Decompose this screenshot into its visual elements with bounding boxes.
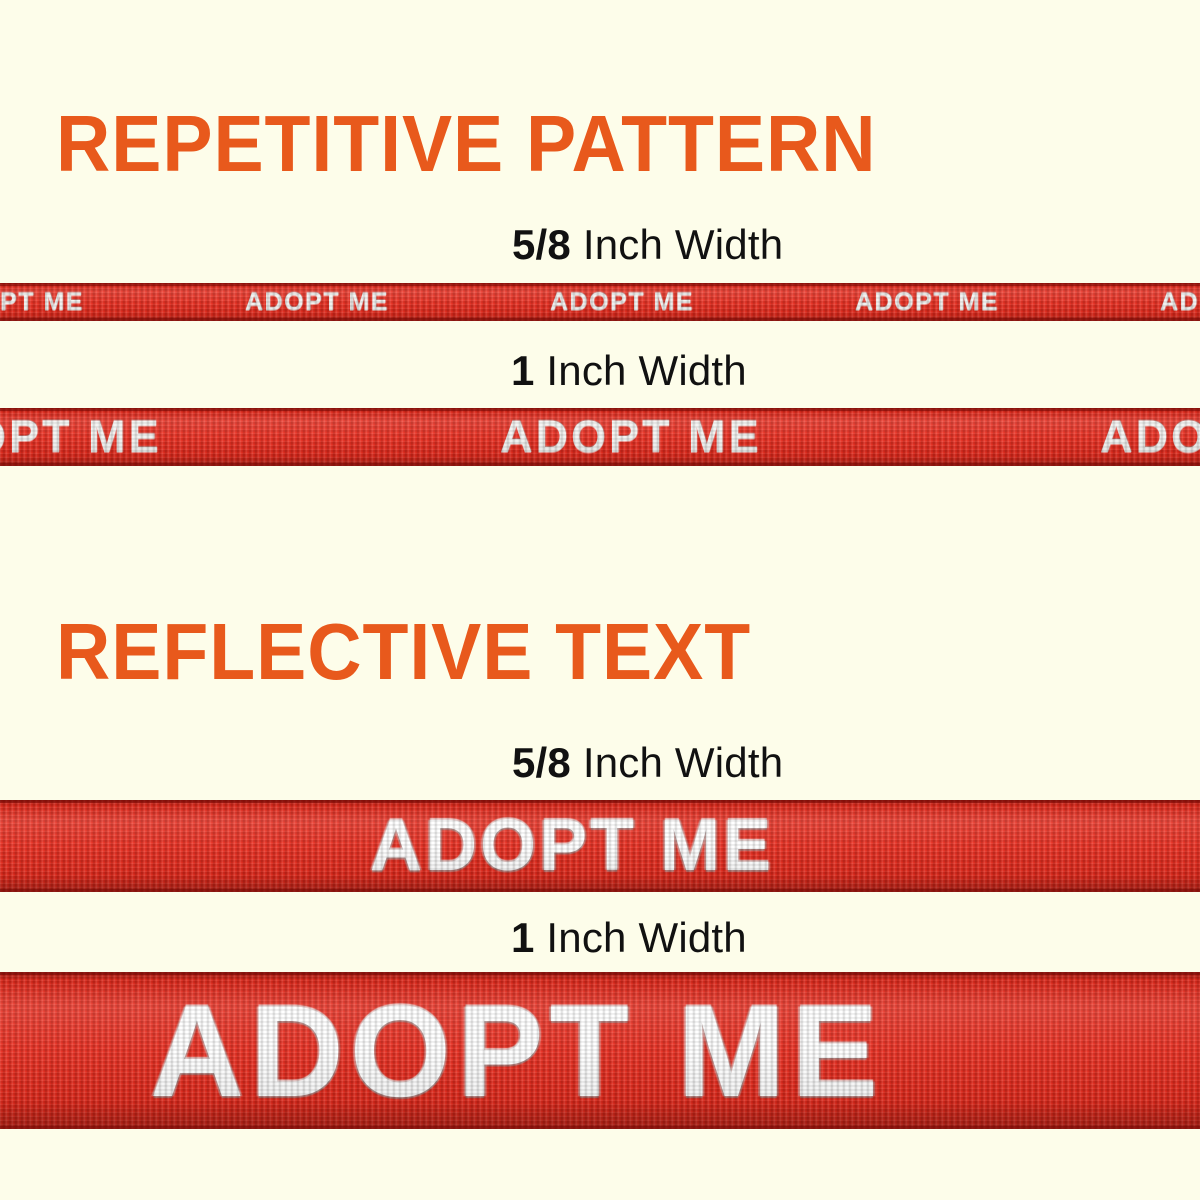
webbing-text: ADOPT ME bbox=[855, 288, 1160, 317]
webbing-text: ADOPT ME bbox=[370, 805, 1200, 887]
width-unit: Inch Width bbox=[535, 914, 747, 961]
width-value: 1 bbox=[511, 347, 535, 394]
product-infographic: REPETITIVE PATTERN 5/8 Inch Width ADOPT … bbox=[0, 0, 1200, 1200]
strap-webbing-text-row: ADOPT ME ADOPT ME ADOPT ME ADOPT ME ADOP… bbox=[0, 283, 1200, 321]
width-unit: Inch Width bbox=[535, 347, 747, 394]
width-value: 5/8 bbox=[512, 221, 571, 268]
section-heading-reflective-text: REFLECTIVE TEXT bbox=[56, 612, 751, 692]
width-label-reflective-one-inch: 1 Inch Width bbox=[511, 917, 747, 959]
webbing-text: ADOPT ME bbox=[0, 411, 500, 463]
webbing-text: ADOPT ME bbox=[0, 805, 370, 887]
webbing-text: ADOPT ME bbox=[1100, 411, 1200, 463]
webbing-text: ADOPT ME bbox=[0, 288, 245, 317]
strap-repetitive-five-eighths-inch: ADOPT ME ADOPT ME ADOPT ME ADOPT ME ADOP… bbox=[0, 283, 1200, 321]
width-label-reflective-five-eighths: 5/8 Inch Width bbox=[512, 742, 783, 784]
width-label-repetitive-one-inch: 1 Inch Width bbox=[511, 350, 747, 392]
webbing-text: ADOPT ME bbox=[245, 288, 550, 317]
webbing-text: ADOPT ME bbox=[1160, 288, 1200, 317]
strap-webbing-text-row: ADOPT ME bbox=[150, 972, 1200, 1129]
strap-webbing-text-row: ADOPT ME ADOPT ME ADOPT ME bbox=[0, 408, 1200, 466]
webbing-text: ADOPT ME bbox=[150, 976, 1200, 1126]
strap-repetitive-one-inch: ADOPT ME ADOPT ME ADOPT ME bbox=[0, 408, 1200, 466]
webbing-text: ADOPT ME bbox=[550, 288, 855, 317]
webbing-text: ADOPT ME bbox=[500, 411, 1100, 463]
strap-webbing-text-row: ADOPT ME ADOPT ME ADOPT ME bbox=[0, 800, 1200, 892]
width-unit: Inch Width bbox=[571, 739, 783, 786]
width-unit: Inch Width bbox=[571, 221, 783, 268]
strap-reflective-five-eighths-inch: ADOPT ME ADOPT ME ADOPT ME bbox=[0, 800, 1200, 892]
width-value: 5/8 bbox=[512, 739, 571, 786]
section-heading-repetitive-pattern: REPETITIVE PATTERN bbox=[56, 104, 877, 184]
width-label-repetitive-five-eighths: 5/8 Inch Width bbox=[512, 224, 783, 266]
strap-reflective-one-inch: ADOPT ME bbox=[0, 972, 1200, 1129]
width-value: 1 bbox=[511, 914, 535, 961]
